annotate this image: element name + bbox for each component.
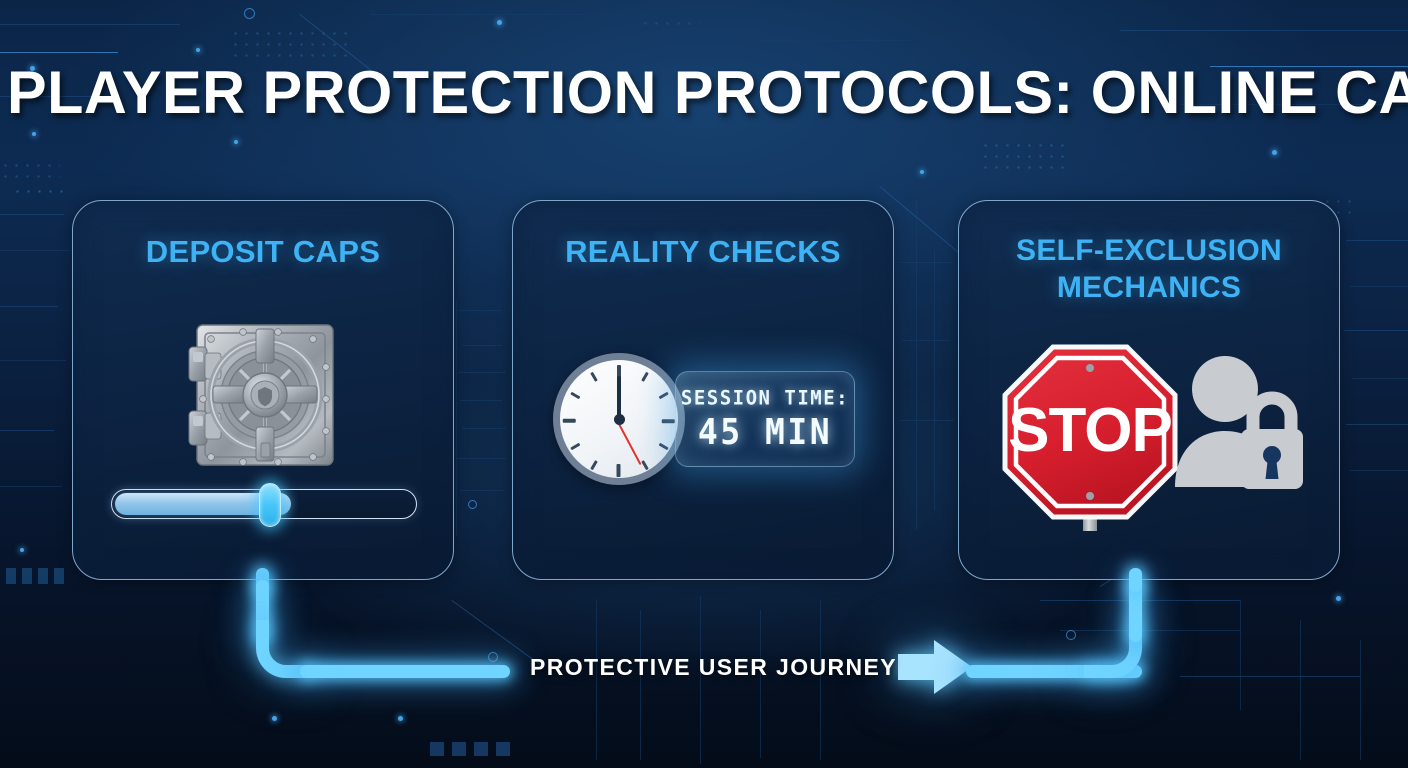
trace-gap1-6	[456, 458, 506, 459]
trace-low-v5	[640, 610, 641, 760]
trace-gap1-1	[458, 310, 502, 311]
person-lock-icon	[1171, 351, 1311, 497]
trace-gap2-v2	[934, 250, 935, 510]
clock-tick-8	[570, 443, 580, 451]
trace-gap2-1	[900, 262, 952, 263]
glow-dot-6	[920, 170, 924, 174]
trace-node-1	[244, 8, 255, 19]
glow-dot-3	[196, 48, 200, 52]
trace-low-v2	[1300, 620, 1301, 760]
trace-gap1-5	[462, 428, 506, 429]
clock-tick-5	[641, 460, 649, 470]
dot-grid-lower-left	[12, 186, 64, 200]
trace-h-4	[370, 14, 590, 15]
trace-h-13	[0, 430, 54, 431]
session-time-display: SESSION TIME: 45 MIN	[675, 371, 855, 467]
trace-node-2	[1066, 630, 1076, 640]
analog-clock-icon	[553, 353, 685, 485]
clock-tick-11	[590, 372, 598, 382]
clock-tick-10	[570, 392, 580, 400]
connector-right-corner	[1084, 620, 1142, 678]
trace-node-gap1	[468, 500, 477, 509]
trace-low-2	[1060, 630, 1240, 631]
trace-gap1-7	[460, 490, 504, 491]
trace-gap2-2	[902, 340, 950, 341]
card-deposit-caps[interactable]: DEPOSIT CAPS	[72, 200, 454, 580]
card-reality-checks[interactable]: REALITY CHECKS SESSI	[512, 200, 894, 580]
card-body-deposit-caps	[73, 201, 453, 579]
trace-h-9	[0, 214, 64, 215]
clock-tick-3	[662, 419, 675, 423]
trace-h-6	[1120, 30, 1408, 31]
trace-gap1-3	[458, 372, 506, 373]
glow-dot-7	[1272, 150, 1277, 155]
trace-h-14	[0, 486, 62, 487]
trace-gap1-4	[460, 400, 502, 401]
circuit-block-7	[38, 568, 48, 584]
connector-left-vertical	[256, 580, 269, 642]
trace-low-v1	[1240, 600, 1241, 710]
trace-low-v6	[700, 596, 701, 764]
trace-low-v4	[596, 600, 597, 760]
card-body-reality-checks: SESSION TIME: 45 MIN	[513, 201, 893, 579]
trace-low-1	[1040, 600, 1240, 601]
glow-dot-8	[20, 548, 24, 552]
trace-h-10	[0, 250, 70, 251]
dot-grid-center-top	[640, 18, 700, 32]
glow-dot-4	[497, 20, 502, 25]
trace-low-v8	[820, 600, 821, 760]
trace-gap1-2	[462, 345, 502, 346]
circuit-block-2	[452, 742, 466, 756]
infographic-canvas: PLAYER PROTECTION PROTOCOLS: ONLINE CA D…	[0, 0, 1408, 768]
session-time-label: SESSION TIME:	[681, 386, 849, 409]
connector-left-horizontal	[300, 665, 510, 678]
circuit-block-5	[6, 568, 16, 584]
deposit-limit-slider[interactable]	[111, 489, 417, 519]
trace-h-11	[0, 306, 58, 307]
trace-gap2-3	[900, 420, 954, 421]
journey-label: PROTECTIVE USER JOURNEY	[530, 654, 897, 681]
trace-r-5	[1346, 424, 1408, 425]
trace-r-3	[1344, 330, 1408, 331]
trace-h-1	[0, 24, 180, 25]
circuit-block-1	[430, 742, 444, 756]
clock-tick-4	[658, 443, 668, 451]
clock-tick-6	[617, 464, 621, 477]
trace-low-3	[1180, 676, 1360, 677]
trace-gap2-v1	[916, 200, 917, 530]
dot-grid-top-right	[980, 140, 1066, 172]
vault-safe-icon	[183, 319, 343, 471]
card-body-self-exclusion: STOP	[959, 201, 1339, 579]
trace-r-2	[1350, 286, 1408, 287]
trace-node-3	[488, 652, 498, 662]
circuit-block-3	[474, 742, 488, 756]
clock-tick-2	[658, 392, 668, 400]
clock-second-hand	[617, 422, 641, 465]
clock-tick-7	[590, 460, 598, 470]
svg-text:STOP: STOP	[1008, 396, 1172, 465]
slider-handle[interactable]	[259, 483, 281, 527]
session-time-value: 45 MIN	[698, 410, 832, 452]
glow-dot-5	[234, 140, 238, 144]
connector-right-vertical	[1129, 580, 1142, 642]
trace-h-2	[0, 52, 118, 53]
trace-r-1	[1346, 240, 1408, 241]
trace-gap1-v	[456, 300, 457, 536]
connector-left-corner	[256, 620, 314, 678]
trace-low-v7	[760, 610, 761, 758]
connector-right-horizontal	[966, 665, 1142, 678]
glow-dot-11	[1336, 596, 1341, 601]
clock-tick-9	[563, 419, 576, 423]
circuit-block-6	[22, 568, 32, 584]
trace-r-4	[1352, 378, 1408, 379]
page-title: PLAYER PROTECTION PROTOCOLS: ONLINE CA	[7, 58, 1401, 127]
glow-dot-9	[272, 716, 277, 721]
diag-trace-4	[451, 600, 541, 665]
trace-r-6	[1350, 470, 1408, 471]
circuit-block-4	[496, 742, 510, 756]
clock-tick-1	[641, 372, 649, 382]
circuit-block-8	[54, 568, 64, 584]
card-self-exclusion-mechanics[interactable]: SELF-EXCLUSION MECHANICS	[958, 200, 1340, 580]
stop-sign-icon: STOP	[1001, 343, 1179, 533]
dot-grid-left-edge	[0, 160, 60, 186]
trace-h-5	[760, 40, 910, 41]
glow-dot-2	[32, 132, 36, 136]
trace-low-v3	[1360, 640, 1361, 760]
glow-dot-10	[398, 716, 403, 721]
right-arrow-icon	[890, 638, 976, 696]
trace-h-12	[0, 360, 66, 361]
clock-center-pin	[614, 414, 625, 425]
